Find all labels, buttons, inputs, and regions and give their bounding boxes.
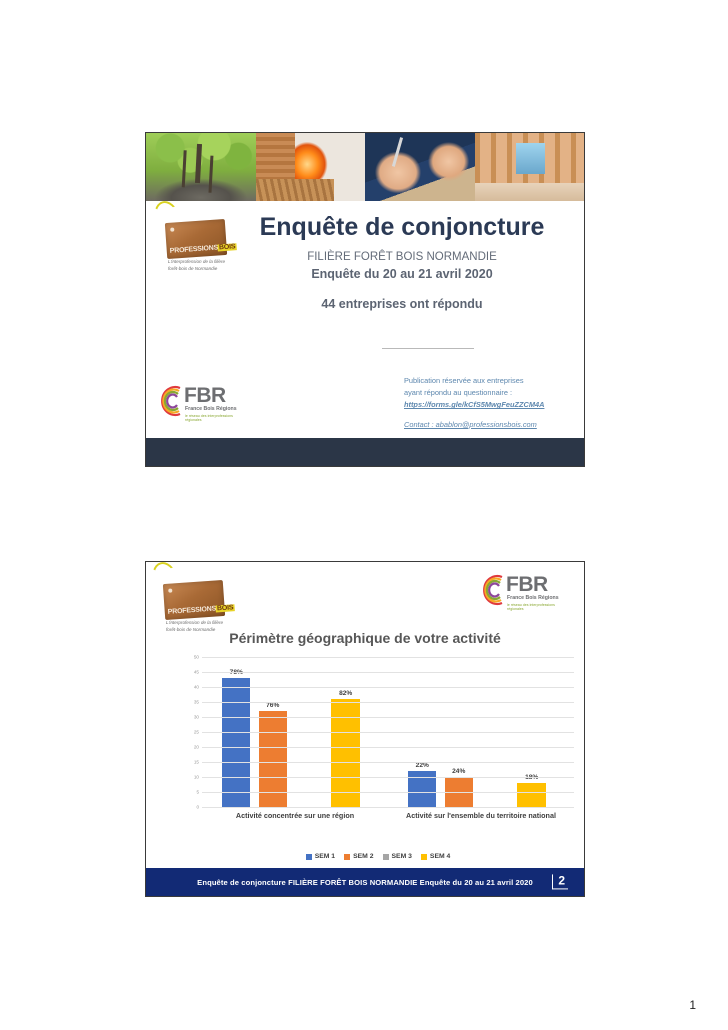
subtitle-dates: Enquête du 20 au 21 avril 2020 [234, 267, 570, 281]
fbr-wordmark: FBR [184, 384, 226, 408]
divider [382, 348, 474, 349]
fire-pellets-photo [256, 133, 366, 201]
footer-text: Enquête de conjoncture FILIÈRE FORÊT BOI… [197, 878, 533, 887]
publication-note: Publication réservée aux entreprises aya… [404, 375, 576, 431]
gridline [202, 747, 574, 748]
x-axis-category-label: Activité concentrée sur une région [202, 811, 388, 821]
fbr-baseline: le réseau des interprofessions régionale… [507, 603, 570, 611]
legend-item[interactable]: SEM 4 [421, 853, 450, 860]
bar-value-label: 82% [339, 690, 352, 697]
legend-item[interactable]: SEM 2 [344, 853, 373, 860]
gridline [202, 702, 574, 703]
chart-legend: SEM 1SEM 2SEM 3SEM 4 [182, 853, 574, 860]
contact-email[interactable]: Contact : abablon@professionsbois.com [404, 419, 576, 431]
logo-wordmark: PROFESSIONSBOIS [170, 244, 225, 255]
timber-frame-photo [475, 133, 585, 201]
wooden-tag-icon: PROFESSIONSBOIS [165, 219, 227, 259]
gridline [202, 657, 574, 658]
respondents-count: 44 entreprises ont répondu [234, 297, 570, 311]
y-tick-label: 15 [194, 760, 199, 765]
legend-label: SEM 3 [392, 853, 412, 860]
legend-swatch [421, 854, 427, 860]
slide-1-footer-bar [146, 438, 584, 466]
legend-item[interactable]: SEM 1 [306, 853, 335, 860]
forest-tree-photo [146, 133, 256, 201]
fbr-arc-icon [160, 385, 186, 417]
slide-page-number: 2 [552, 874, 568, 889]
header-photo-strip [146, 133, 584, 201]
y-tick-label: 30 [194, 715, 199, 720]
gridline [202, 807, 574, 808]
slide-2-body: PROFESSIONSBOIS L'interprofession de la … [146, 562, 584, 868]
page-title: Enquête de conjoncture [234, 213, 570, 242]
legend-item[interactable]: SEM 3 [383, 853, 412, 860]
logo-string-icon [150, 197, 181, 224]
y-tick-label: 20 [194, 745, 199, 750]
fbr-subtitle: France Bois Régions [507, 595, 559, 601]
fbr-logo: FBR France Bois Régions le réseau des in… [160, 383, 248, 423]
y-tick-label: 10 [194, 775, 199, 780]
y-tick-label: 25 [194, 730, 199, 735]
note-line-1: Publication réservée aux entreprises [404, 375, 576, 387]
fbr-arc-icon [482, 574, 508, 606]
fbr-baseline: le réseau des interprofessions régionale… [185, 414, 248, 422]
gridline [202, 777, 574, 778]
bar-value-label: 76% [266, 702, 279, 709]
gridline [202, 762, 574, 763]
gridline [202, 687, 574, 688]
slide-2: PROFESSIONSBOIS L'interprofession de la … [145, 561, 585, 897]
legend-label: SEM 1 [315, 853, 335, 860]
legend-label: SEM 4 [430, 853, 450, 860]
document-page: PROFESSIONSBOIS L'interprofession de la … [0, 0, 728, 1030]
y-tick-label: 35 [194, 700, 199, 705]
slide-2-footer-bar: Enquête de conjoncture FILIÈRE FORÊT BOI… [146, 868, 584, 896]
chart-plot-area: 78%76%82%22%24%18% 05101520253035404550 [202, 657, 574, 807]
gridline [202, 792, 574, 793]
chart-bar: 18% [517, 783, 545, 807]
professions-bois-logo: PROFESSIONSBOIS L'interprofession de la … [156, 570, 228, 632]
person-writing-photo [365, 133, 475, 201]
questionnaire-link[interactable]: https://forms.gle/kCfS5MwgFeuZZCM4A [404, 399, 576, 411]
note-line-2: ayant répondu au questionnaire : [404, 387, 576, 399]
bar-value-label: 22% [416, 762, 429, 769]
chart-title: Périmètre géographique de votre activité [146, 630, 584, 646]
legend-swatch [306, 854, 312, 860]
y-tick-label: 50 [194, 655, 199, 660]
y-tick-label: 40 [194, 685, 199, 690]
tag-hole-icon [170, 227, 174, 231]
slide-1-body: PROFESSIONSBOIS L'interprofession de la … [146, 201, 584, 435]
subtitle-filiere: FILIÈRE FORÊT BOIS NORMANDIE [234, 251, 570, 263]
legend-swatch [344, 854, 350, 860]
gridline [202, 732, 574, 733]
chart-bar: 82% [331, 699, 359, 807]
gridline [202, 717, 574, 718]
x-axis-category-label: Activité sur l'ensemble du territoire na… [388, 811, 574, 821]
logo-string-icon [148, 561, 179, 586]
gridline [202, 672, 574, 673]
logo-tagline: L'interprofession de la filière forêt-bo… [168, 259, 232, 273]
professions-bois-logo: PROFESSIONSBOIS L'interprofession de la … [158, 209, 230, 271]
y-tick-label: 45 [194, 670, 199, 675]
bar-value-label: 24% [452, 768, 465, 775]
fbr-subtitle: France Bois Régions [185, 406, 237, 412]
logo-wordmark: PROFESSIONSBOIS [168, 605, 223, 616]
bar-chart: Nombre d'entreprises 78%76%82%22%24%18% … [182, 657, 574, 807]
document-page-number: 1 [689, 998, 696, 1012]
fbr-logo: FBR France Bois Régions le réseau des in… [482, 572, 570, 612]
legend-label: SEM 2 [353, 853, 373, 860]
tag-hole-icon [168, 588, 172, 592]
y-tick-label: 0 [196, 805, 199, 810]
slide-1: PROFESSIONSBOIS L'interprofession de la … [145, 132, 585, 467]
wooden-tag-icon: PROFESSIONSBOIS [163, 580, 225, 620]
fbr-wordmark: FBR [506, 573, 548, 597]
chart-bar: 78% [222, 678, 250, 807]
y-tick-label: 5 [196, 790, 199, 795]
legend-swatch [383, 854, 389, 860]
